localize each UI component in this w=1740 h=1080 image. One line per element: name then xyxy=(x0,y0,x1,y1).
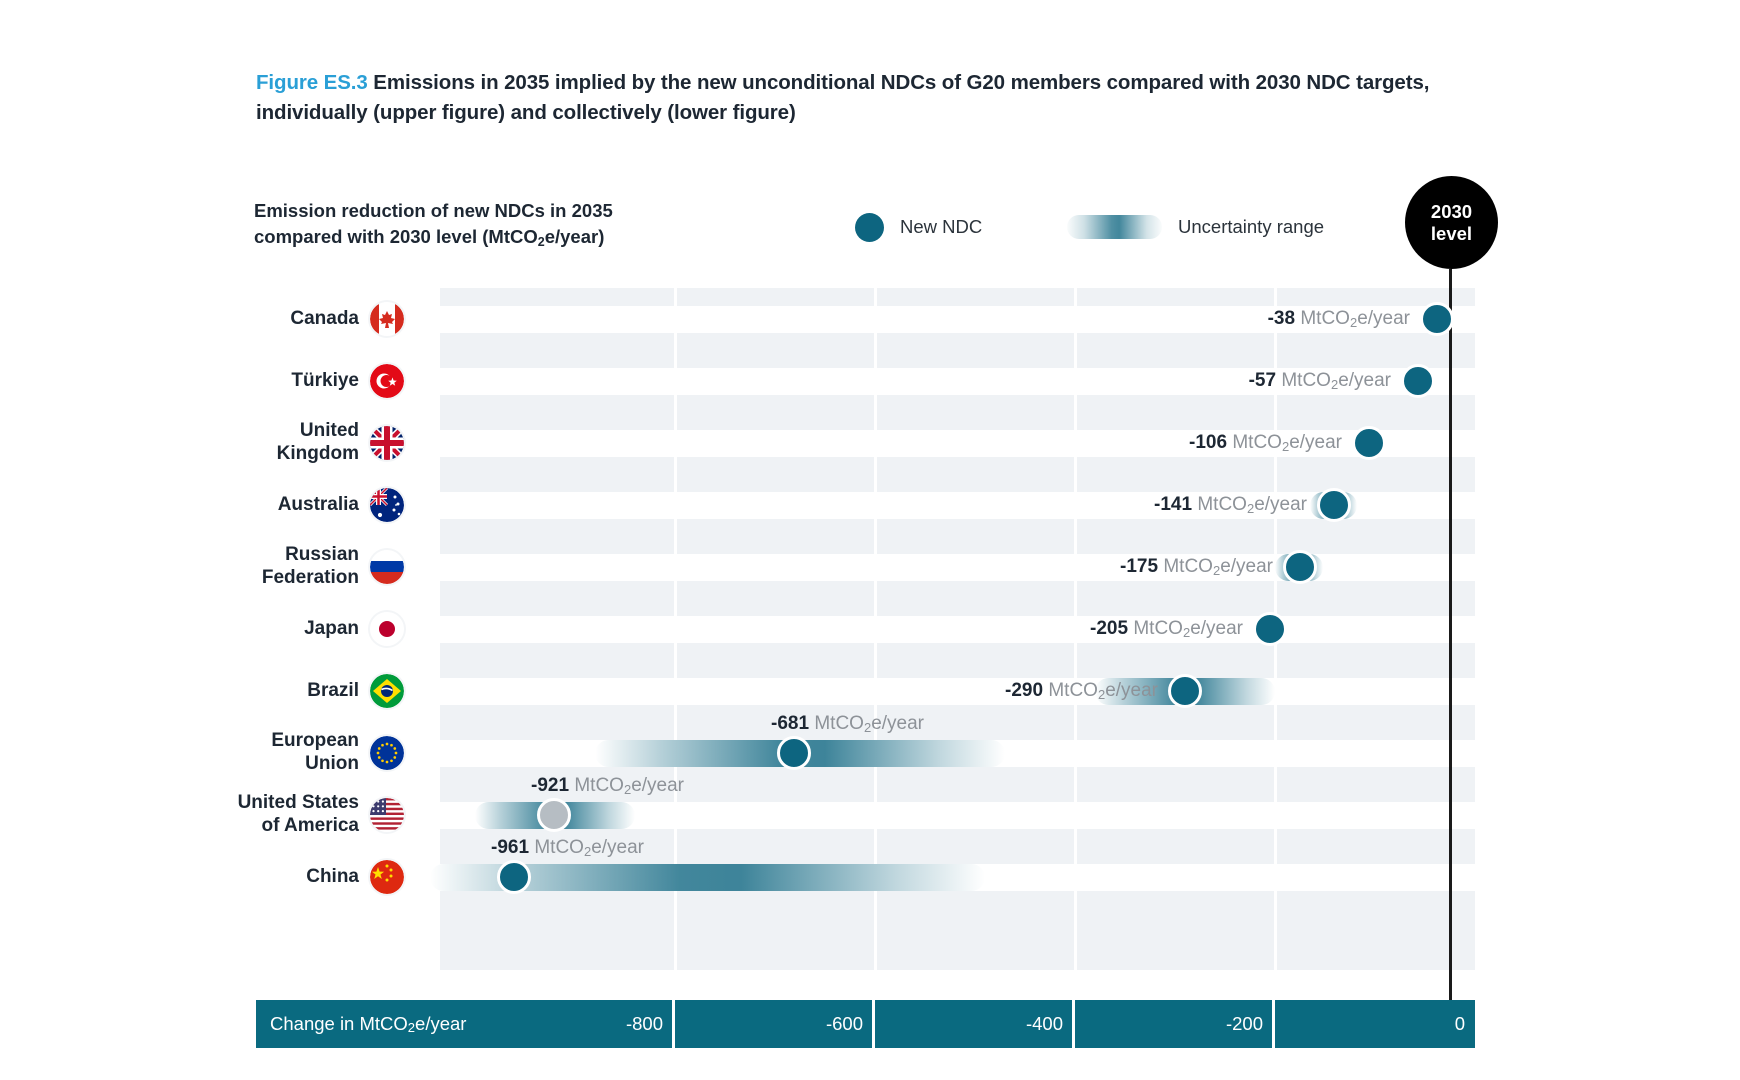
data-value-label: -141 MtCO2e/year xyxy=(1154,494,1307,516)
flag-japan-icon xyxy=(370,612,404,646)
legend-item-new-ndc: New NDC xyxy=(855,210,982,244)
data-value-label: -205 MtCO2e/year xyxy=(1090,618,1243,640)
data-value-number: -38 xyxy=(1268,308,1295,329)
data-value-unit: MtCO2e/year xyxy=(1192,494,1307,515)
figure-number: Figure ES.3 xyxy=(256,71,368,94)
data-value-unit: MtCO2e/year xyxy=(1227,432,1342,453)
data-value-number: -961 xyxy=(491,837,529,858)
data-value-unit: MtCO2e/year xyxy=(1043,680,1158,701)
x-axis-tick-label: -200 xyxy=(1075,1000,1275,1048)
x-axis-bar: Change in MtCO2e/year -800-600-400-2000 xyxy=(256,1000,1475,1048)
x-axis-tick-label: -600 xyxy=(675,1000,875,1048)
chart-plot-area: -38 MtCO2e/year-57 MtCO2e/year-106 MtCO2… xyxy=(440,288,1475,992)
data-point-marker[interactable] xyxy=(1420,302,1454,336)
country-label-russian-federation: RussianFederation xyxy=(144,536,404,598)
data-point-marker[interactable] xyxy=(1352,426,1386,460)
country-name: RussianFederation xyxy=(262,544,359,590)
data-value-unit: MtCO2e/year xyxy=(569,775,684,796)
data-point-marker[interactable] xyxy=(1317,488,1351,522)
data-value-number: -141 xyxy=(1154,494,1192,515)
country-label-japan: Japan xyxy=(144,598,404,660)
data-point-marker[interactable] xyxy=(497,860,531,894)
legend-item-uncertainty: Uncertainty range xyxy=(1067,210,1324,244)
badge-2030-level: 2030 level xyxy=(1405,176,1498,269)
data-value-label: -290 MtCO2e/year xyxy=(1005,680,1158,702)
data-point-marker[interactable] xyxy=(1253,612,1287,646)
flag-uk-icon xyxy=(370,426,404,460)
legend-label-uncertainty: Uncertainty range xyxy=(1178,216,1324,238)
badge-2030-line2: level xyxy=(1431,223,1472,244)
data-value-number: -290 xyxy=(1005,680,1043,701)
data-value-number: -175 xyxy=(1120,556,1158,577)
data-value-label: -38 MtCO2e/year xyxy=(1268,308,1410,330)
data-value-label: -175 MtCO2e/year xyxy=(1120,556,1273,578)
chart-value-strip xyxy=(440,678,1475,705)
country-label-canada: Canada xyxy=(144,288,404,350)
data-point-marker[interactable] xyxy=(1401,364,1435,398)
figure-page: Figure ES.3 Emissions in 2035 implied by… xyxy=(0,0,1740,1080)
country-label-china: China xyxy=(144,846,404,908)
country-name: EuropeanUnion xyxy=(271,730,359,776)
chart-subtitle-line1: Emission reduction of new NDCs in 2035 xyxy=(254,200,613,221)
chart-subtitle-line2a: compared with 2030 level (MtCO xyxy=(254,226,538,247)
country-label-t-rkiye: Türkiye xyxy=(144,350,404,412)
data-value-number: -57 xyxy=(1249,370,1276,391)
country-label-australia: Australia xyxy=(144,474,404,536)
figure-caption-text: Emissions in 2035 implied by the new unc… xyxy=(256,71,1429,124)
country-label-united-states-of-america: United Statesof America xyxy=(144,784,404,846)
flag-usa-icon xyxy=(370,798,404,832)
country-name: Japan xyxy=(304,618,359,641)
data-value-label: -106 MtCO2e/year xyxy=(1189,432,1342,454)
country-name: United Statesof America xyxy=(238,792,359,838)
legend-label-new-ndc: New NDC xyxy=(900,216,982,238)
data-point-marker[interactable] xyxy=(1168,674,1202,708)
flag-russia-icon xyxy=(370,550,404,584)
data-value-unit: MtCO2e/year xyxy=(1158,556,1273,577)
data-value-unit: MtCO2e/year xyxy=(1276,370,1391,391)
data-value-label: -57 MtCO2e/year xyxy=(1249,370,1391,392)
figure-caption: Figure ES.3 Emissions in 2035 implied by… xyxy=(256,68,1501,127)
subscript-2: 2 xyxy=(538,235,545,249)
chart-subtitle: Emission reduction of new NDCs in 2035 c… xyxy=(254,198,724,249)
data-value-label: -961 MtCO2e/year xyxy=(491,837,644,859)
data-value-number: -681 xyxy=(771,713,809,734)
flag-brazil-icon xyxy=(370,674,404,708)
flag-china-icon xyxy=(370,860,404,894)
data-point-marker[interactable] xyxy=(537,798,571,832)
data-value-number: -106 xyxy=(1189,432,1227,453)
legend-dot-icon xyxy=(855,213,884,242)
x-axis-tick-label: -400 xyxy=(875,1000,1075,1048)
chart-subtitle-line2b: e/year) xyxy=(545,226,605,247)
country-name: UnitedKingdom xyxy=(277,420,359,466)
data-value-unit: MtCO2e/year xyxy=(1295,308,1410,329)
country-label-european-union: EuropeanUnion xyxy=(144,722,404,784)
data-value-label: -681 MtCO2e/year xyxy=(771,713,924,735)
x-axis-tick-label: 0 xyxy=(1275,1000,1475,1048)
reference-line-2030 xyxy=(1449,269,1452,1000)
data-point-marker[interactable] xyxy=(777,736,811,770)
data-value-unit: MtCO2e/year xyxy=(1128,618,1243,639)
chart-row-band xyxy=(440,908,1475,970)
country-name: China xyxy=(306,866,359,889)
flag-australia-icon xyxy=(370,488,404,522)
flag-canada-icon xyxy=(370,302,404,336)
data-value-number: -205 xyxy=(1090,618,1128,639)
x-axis-tick-label: -800 xyxy=(256,1000,675,1048)
legend-gradient-bar-icon xyxy=(1067,215,1162,239)
data-value-number: -921 xyxy=(531,775,569,796)
country-label-brazil: Brazil xyxy=(144,660,404,722)
country-name: Brazil xyxy=(307,680,359,703)
country-label-united-kingdom: UnitedKingdom xyxy=(144,412,404,474)
flag-eu-icon xyxy=(370,736,404,770)
data-value-label: -921 MtCO2e/year xyxy=(531,775,684,797)
chart-value-strip xyxy=(440,616,1475,643)
country-name: Türkiye xyxy=(291,370,359,393)
country-name: Australia xyxy=(278,494,359,517)
data-value-unit: MtCO2e/year xyxy=(529,837,644,858)
data-value-unit: MtCO2e/year xyxy=(809,713,924,734)
flag-turkiye-icon xyxy=(370,364,404,398)
badge-2030-line1: 2030 xyxy=(1431,201,1472,222)
country-name: Canada xyxy=(290,308,359,331)
data-point-marker[interactable] xyxy=(1283,550,1317,584)
